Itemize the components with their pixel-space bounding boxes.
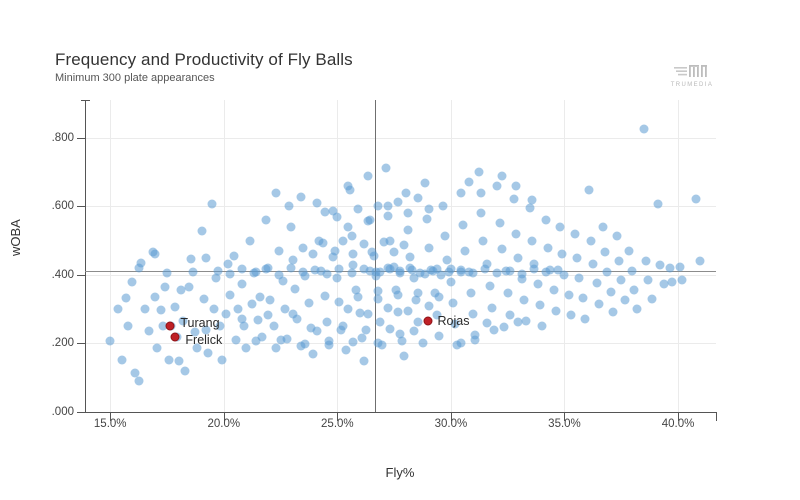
y-tick: [77, 206, 86, 207]
data-point: [288, 309, 297, 318]
data-point: [384, 202, 393, 211]
data-point: [558, 249, 567, 258]
data-point: [230, 252, 239, 261]
point-annotation-label: Frelick: [185, 333, 222, 347]
data-point: [252, 337, 261, 346]
data-point: [286, 264, 295, 273]
data-point: [538, 321, 547, 330]
data-point: [629, 285, 638, 294]
data-point: [234, 305, 243, 314]
data-point: [469, 309, 478, 318]
data-point: [633, 305, 642, 314]
data-point: [519, 296, 528, 305]
trumedia-logo-icon: [674, 64, 712, 80]
data-point: [237, 264, 246, 273]
data-point: [544, 244, 553, 253]
data-point: [347, 232, 356, 241]
data-point: [495, 218, 504, 227]
data-point: [134, 377, 143, 386]
data-point: [511, 229, 520, 238]
data-point: [542, 268, 551, 277]
data-point: [199, 294, 208, 303]
data-point: [363, 309, 372, 318]
data-point: [692, 195, 701, 204]
data-point: [509, 195, 518, 204]
data-point: [570, 229, 579, 238]
data-point: [264, 311, 273, 320]
data-point: [353, 205, 362, 214]
data-point: [487, 303, 496, 312]
data-point: [237, 314, 246, 323]
data-point: [580, 314, 589, 323]
x-gridline: [451, 100, 452, 412]
data-point: [601, 247, 610, 256]
data-point: [584, 185, 593, 194]
data-point: [106, 336, 115, 345]
x-tick-label: 25.0%: [321, 418, 354, 430]
data-point: [250, 268, 259, 277]
data-point: [621, 295, 630, 304]
data-point: [434, 292, 443, 301]
data-point: [497, 172, 506, 181]
x-axis-right-cap: [716, 412, 717, 421]
data-point: [475, 168, 484, 177]
data-point: [319, 239, 328, 248]
data-point: [374, 202, 383, 211]
data-point: [386, 325, 395, 334]
data-point: [311, 266, 320, 275]
data-point: [448, 298, 457, 307]
data-point: [321, 207, 330, 216]
data-point: [556, 222, 565, 231]
data-point: [665, 264, 674, 273]
data-point: [256, 292, 265, 301]
y-tick-label: .000: [52, 406, 74, 418]
data-point: [209, 305, 218, 314]
data-point: [676, 262, 685, 271]
data-point: [341, 346, 350, 355]
y-tick-label: .200: [52, 337, 74, 349]
y-axis-top-cap: [81, 100, 90, 101]
data-point: [396, 267, 405, 276]
data-point: [284, 202, 293, 211]
data-point: [181, 366, 190, 375]
data-point: [379, 237, 388, 246]
scatter-plot-area: .000.200.400.600.80015.0%20.0%25.0%30.0%…: [85, 100, 716, 412]
data-point: [400, 352, 409, 361]
data-point: [459, 221, 468, 230]
data-point: [493, 268, 502, 277]
data-point: [528, 236, 537, 245]
data-point: [678, 275, 687, 284]
data-point: [349, 249, 358, 258]
y-axis-line: [85, 100, 86, 413]
data-point: [150, 292, 159, 301]
highlighted-data-point: [171, 332, 180, 341]
data-point: [223, 259, 232, 268]
data-point: [150, 249, 159, 258]
data-point: [467, 289, 476, 298]
x-axis-line: [85, 412, 717, 413]
x-gridline: [224, 100, 225, 412]
data-point: [274, 270, 283, 279]
x-tick-label: 30.0%: [435, 418, 468, 430]
data-point: [374, 287, 383, 296]
data-point: [400, 240, 409, 249]
data-point: [497, 245, 506, 254]
data-point: [517, 270, 526, 279]
data-point: [207, 199, 216, 208]
data-point: [461, 246, 470, 255]
data-point: [225, 270, 234, 279]
data-point: [329, 253, 338, 262]
data-point: [424, 244, 433, 253]
data-point: [404, 306, 413, 315]
data-point: [140, 305, 149, 314]
data-point: [286, 222, 295, 231]
data-point: [554, 266, 563, 275]
data-point: [406, 264, 415, 273]
data-point: [304, 298, 313, 307]
data-point: [248, 299, 257, 308]
y-tick: [77, 275, 86, 276]
data-point: [232, 336, 241, 345]
data-point: [384, 211, 393, 220]
data-point: [574, 274, 583, 283]
data-point: [647, 294, 656, 303]
data-point: [446, 265, 455, 274]
data-point: [477, 188, 486, 197]
data-point: [607, 288, 616, 297]
data-point: [513, 318, 522, 327]
data-point: [617, 276, 626, 285]
data-point: [442, 256, 451, 265]
data-point: [534, 280, 543, 289]
data-point: [225, 291, 234, 300]
chart-screenshot: Frequency and Productivity of Fly Balls …: [0, 0, 800, 500]
y-tick: [77, 138, 86, 139]
data-point: [171, 303, 180, 312]
data-point: [390, 248, 399, 257]
data-point: [410, 327, 419, 336]
data-point: [414, 288, 423, 297]
data-point: [536, 301, 545, 310]
y-tick-label: .400: [52, 269, 74, 281]
data-point: [290, 285, 299, 294]
data-point: [603, 268, 612, 277]
data-point: [696, 257, 705, 266]
data-point: [369, 251, 378, 260]
data-point: [525, 203, 534, 212]
data-point: [333, 273, 342, 282]
data-point: [201, 253, 210, 262]
x-tick-label: 15.0%: [94, 418, 127, 430]
data-point: [156, 305, 165, 314]
data-point: [572, 254, 581, 263]
data-point: [359, 357, 368, 366]
data-point: [365, 266, 374, 275]
data-point: [493, 181, 502, 190]
data-point: [349, 338, 358, 347]
data-point: [313, 198, 322, 207]
data-point: [422, 215, 431, 224]
data-point: [667, 277, 676, 286]
data-point: [381, 163, 390, 172]
data-point: [270, 321, 279, 330]
data-point: [114, 305, 123, 314]
data-point: [276, 336, 285, 345]
data-point: [323, 318, 332, 327]
page-subtitle: Minimum 300 plate appearances: [55, 72, 215, 84]
data-point: [262, 265, 271, 274]
data-point: [457, 268, 466, 277]
data-point: [655, 261, 664, 270]
data-point: [489, 325, 498, 334]
data-point: [457, 339, 466, 348]
data-point: [586, 236, 595, 245]
data-point: [499, 322, 508, 331]
data-point: [406, 253, 415, 262]
data-point: [566, 310, 575, 319]
y-axis-title: wOBA: [8, 219, 23, 256]
data-point: [420, 178, 429, 187]
data-point: [300, 340, 309, 349]
data-point: [426, 266, 435, 275]
data-point: [641, 257, 650, 266]
data-point: [530, 264, 539, 273]
data-point: [165, 355, 174, 364]
data-point: [436, 270, 445, 279]
data-point: [325, 337, 334, 346]
data-point: [339, 237, 348, 246]
data-point: [376, 268, 385, 277]
point-annotation-label: Rojas: [438, 314, 470, 328]
data-point: [613, 232, 622, 241]
y-tick: [77, 412, 86, 413]
data-point: [440, 232, 449, 241]
data-point: [347, 269, 356, 278]
data-point: [298, 268, 307, 277]
data-point: [412, 296, 421, 305]
data-point: [333, 213, 342, 222]
data-point: [398, 336, 407, 345]
data-point: [343, 222, 352, 231]
x-gridline: [678, 100, 679, 412]
data-point: [550, 285, 559, 294]
data-point: [298, 244, 307, 253]
data-point: [321, 292, 330, 301]
data-point: [343, 305, 352, 314]
data-point: [542, 216, 551, 225]
data-point: [404, 226, 413, 235]
data-point: [162, 269, 171, 278]
y-gridline: [85, 206, 716, 207]
y-tick-label: .800: [52, 132, 74, 144]
data-point: [469, 269, 478, 278]
data-point: [272, 188, 281, 197]
data-point: [237, 280, 246, 289]
data-point: [592, 279, 601, 288]
data-point: [653, 199, 662, 208]
data-point: [505, 266, 514, 275]
data-point: [175, 357, 184, 366]
data-point: [262, 216, 271, 225]
y-gridline: [85, 138, 716, 139]
data-point: [615, 257, 624, 266]
data-point: [394, 198, 403, 207]
data-point: [127, 277, 136, 286]
data-point: [402, 188, 411, 197]
data-point: [477, 209, 486, 218]
data-point: [189, 268, 198, 277]
data-point: [521, 317, 530, 326]
data-point: [384, 303, 393, 312]
data-point: [217, 355, 226, 364]
highlighted-data-point: [166, 321, 175, 330]
data-point: [309, 250, 318, 259]
data-point: [177, 285, 186, 294]
data-point: [434, 331, 443, 340]
data-point: [609, 307, 618, 316]
data-point: [337, 325, 346, 334]
x-axis-title: Fly%: [0, 465, 800, 480]
data-point: [349, 260, 358, 269]
data-point: [221, 309, 230, 318]
data-point: [353, 292, 362, 301]
data-point: [457, 188, 466, 197]
data-point: [152, 343, 161, 352]
data-point: [438, 202, 447, 211]
data-point: [335, 298, 344, 307]
data-point: [187, 255, 196, 264]
data-point: [627, 266, 636, 275]
data-point: [485, 281, 494, 290]
data-point: [359, 240, 368, 249]
data-point: [578, 294, 587, 303]
data-point: [483, 318, 492, 327]
data-point: [599, 222, 608, 231]
data-point: [446, 277, 455, 286]
data-point: [595, 299, 604, 308]
data-point: [424, 302, 433, 311]
x-tick-label: 40.0%: [662, 418, 695, 430]
data-point: [296, 192, 305, 201]
point-annotation-label: Turang: [180, 316, 219, 330]
data-point: [363, 217, 372, 226]
data-point: [274, 246, 283, 255]
data-point: [424, 205, 433, 214]
brand-name: TRUMEDIA: [664, 82, 720, 88]
data-point: [414, 318, 423, 327]
data-point: [643, 275, 652, 284]
data-point: [361, 326, 370, 335]
y-tick-label: .600: [52, 200, 74, 212]
data-point: [313, 327, 322, 336]
data-point: [266, 295, 275, 304]
data-point: [343, 181, 352, 190]
data-point: [394, 291, 403, 300]
data-point: [505, 310, 514, 319]
data-point: [639, 125, 648, 134]
data-point: [414, 194, 423, 203]
data-point: [511, 181, 520, 190]
data-point: [528, 196, 537, 205]
data-point: [122, 294, 131, 303]
page-title: Frequency and Productivity of Fly Balls: [55, 50, 353, 70]
data-point: [203, 349, 212, 358]
data-point: [134, 264, 143, 273]
highlighted-data-point: [423, 317, 432, 326]
data-point: [404, 209, 413, 218]
data-point: [386, 265, 395, 274]
data-point: [309, 350, 318, 359]
data-point: [374, 339, 383, 348]
data-point: [335, 264, 344, 273]
data-point: [160, 283, 169, 292]
x-tick-label: 35.0%: [548, 418, 581, 430]
data-point: [118, 355, 127, 364]
x-tick-label: 20.0%: [207, 418, 240, 430]
data-point: [185, 283, 194, 292]
data-point: [197, 226, 206, 235]
data-point: [479, 237, 488, 246]
data-point: [394, 307, 403, 316]
data-point: [465, 177, 474, 186]
data-point: [471, 336, 480, 345]
data-point: [213, 266, 222, 275]
x-gridline: [110, 100, 111, 412]
data-point: [588, 259, 597, 268]
data-point: [246, 236, 255, 245]
data-point: [625, 246, 634, 255]
data-point: [254, 316, 263, 325]
data-point: [363, 172, 372, 181]
brand-logo: TRUMEDIA: [664, 64, 720, 98]
data-point: [418, 339, 427, 348]
y-tick: [77, 343, 86, 344]
data-point: [323, 270, 332, 279]
data-point: [242, 343, 251, 352]
data-point: [513, 254, 522, 263]
data-point: [552, 306, 561, 315]
data-point: [144, 327, 153, 336]
data-point: [564, 290, 573, 299]
data-point: [124, 321, 133, 330]
data-point: [503, 289, 512, 298]
data-point: [376, 318, 385, 327]
data-point: [416, 269, 425, 278]
data-point: [481, 265, 490, 274]
